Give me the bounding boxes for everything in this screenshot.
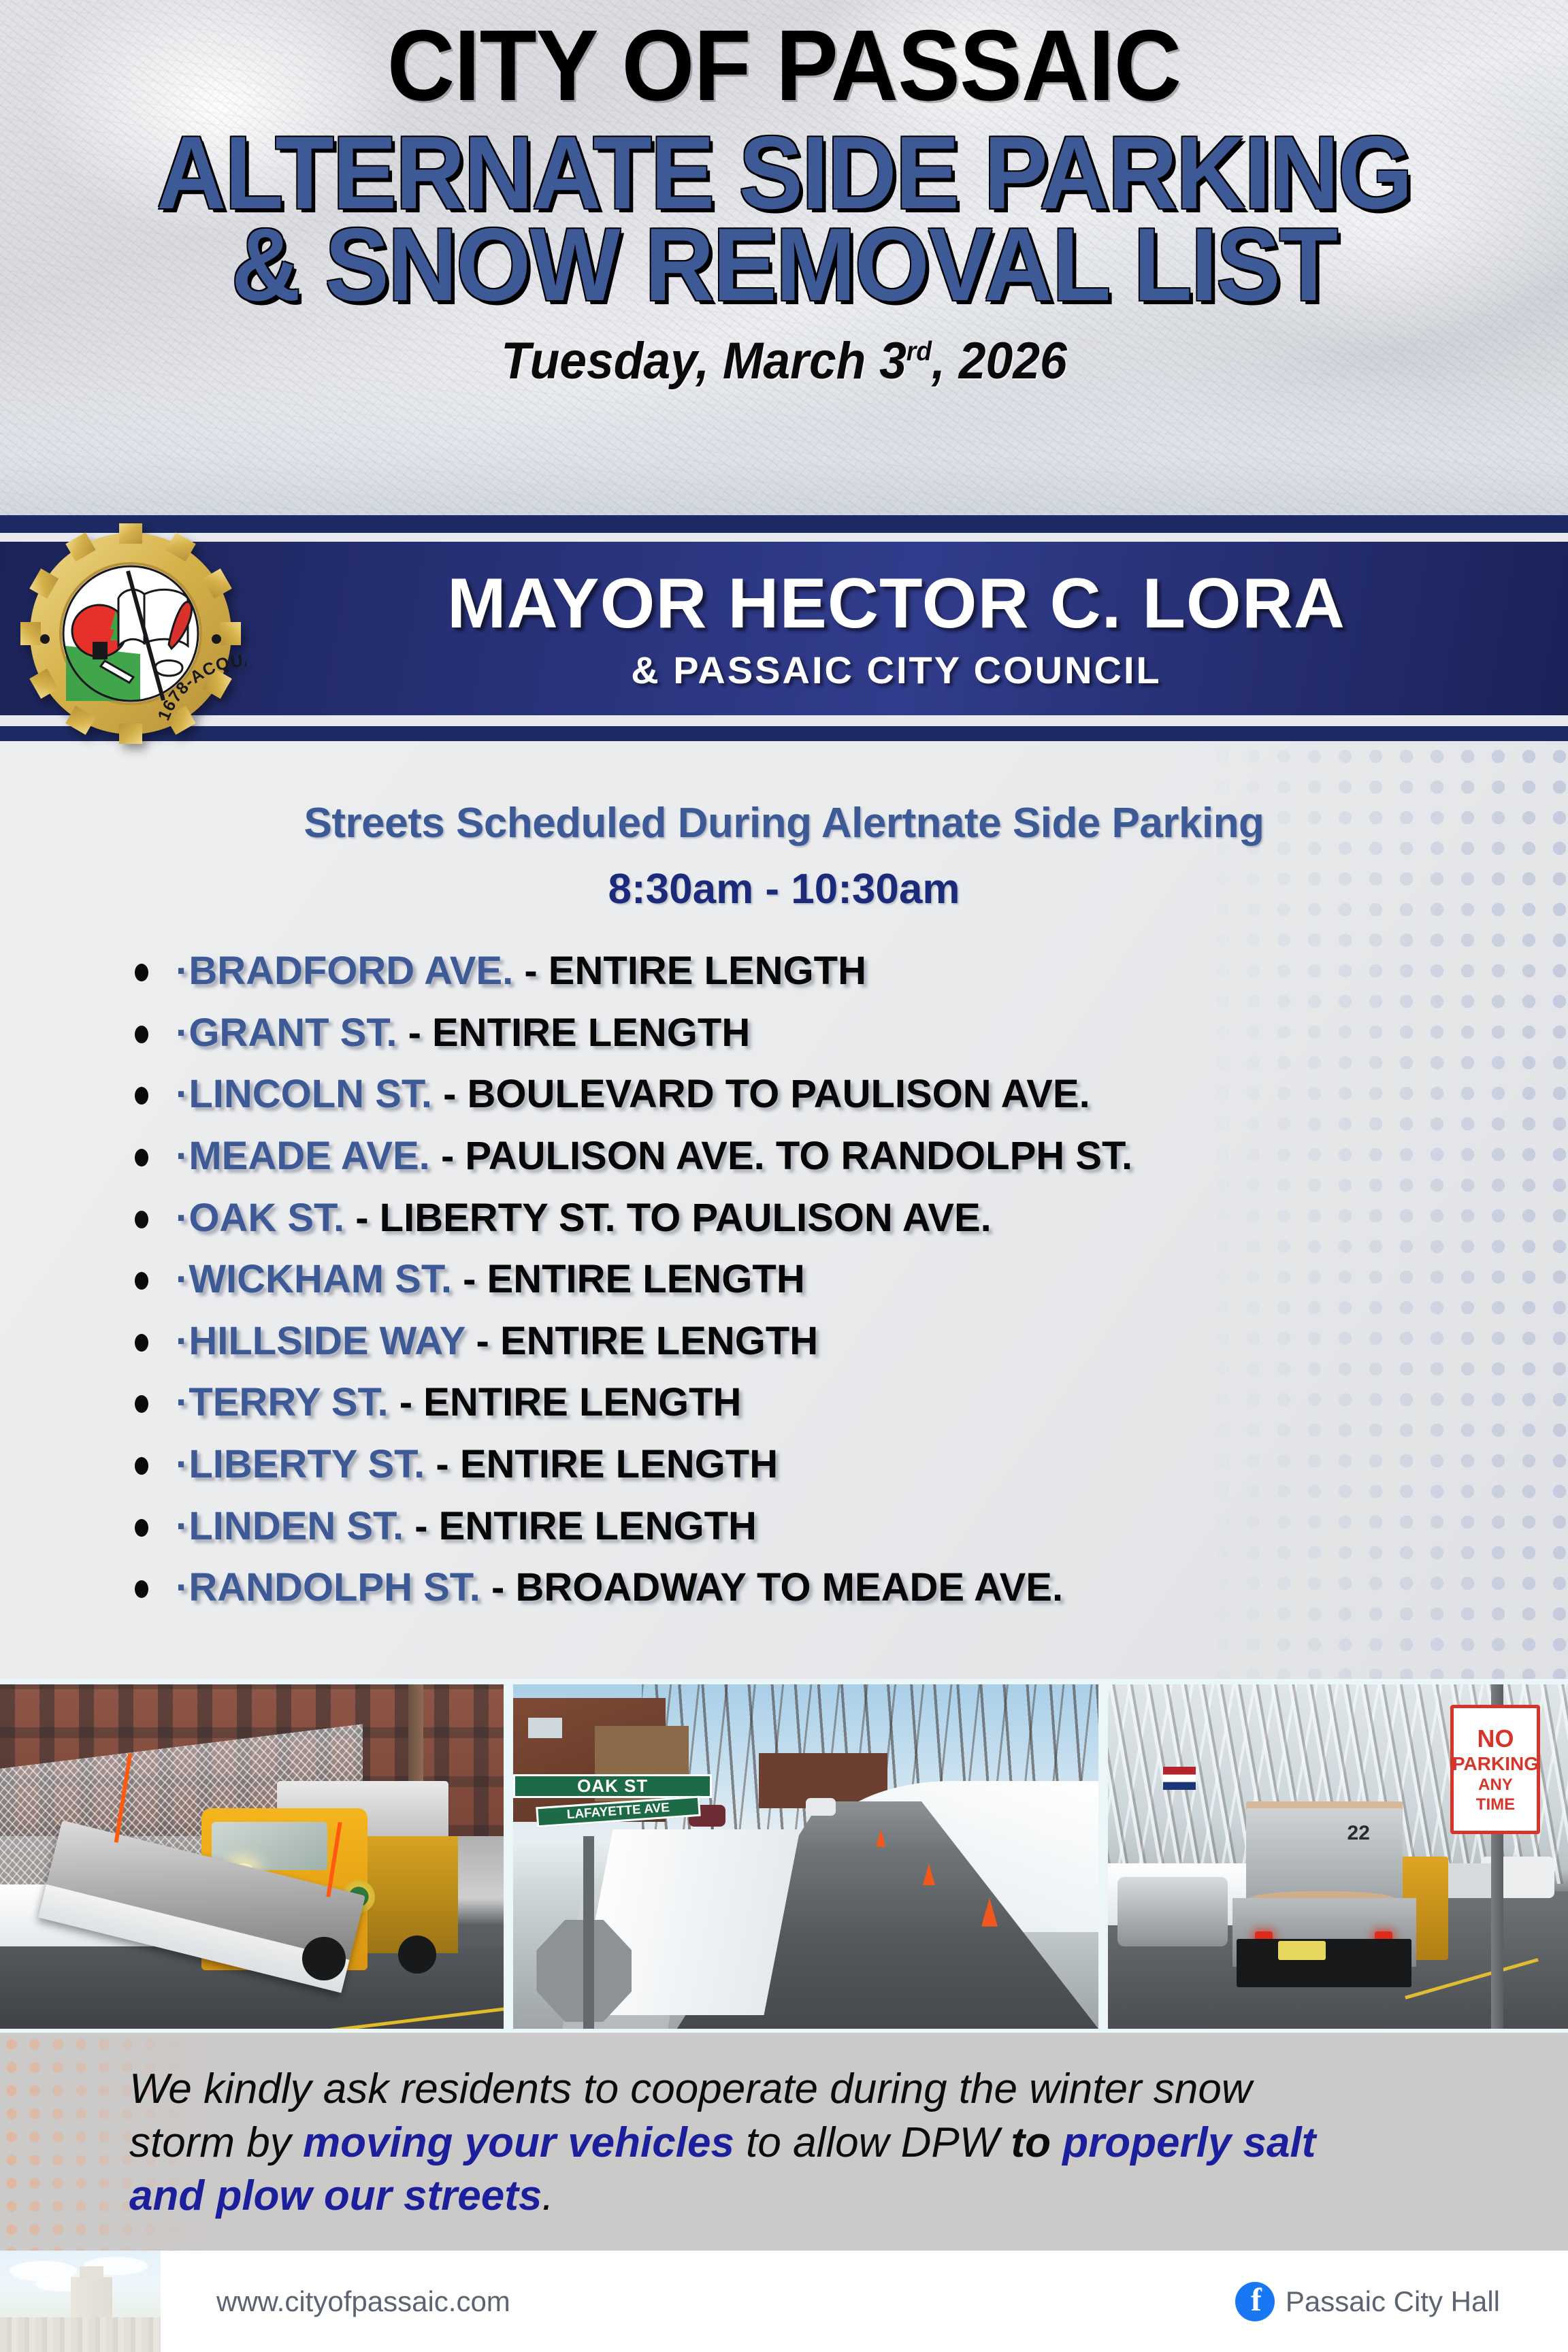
event-date-main: Tuesday, March 3 [501, 332, 906, 390]
list-heading: Streets Scheduled During Alertnate Side … [0, 799, 1568, 847]
page-footer: www.cityofpassaic.com Passaic City Hall [0, 2251, 1568, 2352]
street-sign-oak-st: OAK ST [513, 1774, 712, 1798]
street-name: ·HILLSIDE WAY [176, 1319, 465, 1363]
street-name: ·TERRY ST. [176, 1380, 389, 1424]
page-title-line2: & SNOW REMOVAL LIST [55, 216, 1514, 314]
facebook-page-label[interactable]: Passaic City Hall [1286, 2285, 1500, 2318]
city-skyline-photo [0, 2251, 161, 2352]
no-parking-line-4: TIME [1476, 1797, 1515, 1813]
website-url[interactable]: www.cityofpassaic.com [216, 2285, 510, 2318]
street-extent: - PAULISON AVE. TO RANDOLPH ST. [441, 1134, 1132, 1178]
list-item: ·BRADFORD AVE. - ENTIRE LENGTH [129, 950, 1568, 993]
no-parking-sign: NO PARKING ANY TIME [1450, 1705, 1540, 1834]
page-title-city: CITY OF PASSAIC [55, 15, 1514, 118]
street-list: ·BRADFORD AVE. - ENTIRE LENGTH ·GRANT ST… [129, 950, 1568, 1610]
street-name: ·LINDEN ST. [176, 1504, 404, 1548]
city-seal-icon: 1678-ACQUACKANONK CITY OF PASSAIC-1873 [15, 518, 246, 749]
street-extent: - LIBERTY ST. TO PAULISON AVE. [355, 1196, 992, 1240]
photo-strip: OAK ST LAFAYETTE AVE 22 NO PARKING ANY T… [0, 1679, 1568, 2033]
truck-number-label: 22 [1347, 1822, 1370, 1845]
street-name: ·WICKHAM ST. [176, 1257, 452, 1301]
event-date-year: , 2026 [932, 332, 1067, 390]
note-part-2: to allow DPW [734, 2119, 1011, 2166]
list-item: ·GRANT ST. - ENTIRE LENGTH [129, 1012, 1568, 1055]
street-extent: - ENTIRE LENGTH [399, 1380, 742, 1424]
photo-salt-spreader-truck: 22 NO PARKING ANY TIME [1108, 1684, 1568, 2029]
list-item: ·HILLSIDE WAY - ENTIRE LENGTH [129, 1320, 1568, 1363]
street-name: ·RANDOLPH ST. [176, 1565, 480, 1610]
street-extent: - ENTIRE LENGTH [463, 1257, 805, 1301]
note-bold-to: to [1011, 2119, 1051, 2166]
list-item: ·LINCOLN ST. - BOULEVARD TO PAULISON AVE… [129, 1073, 1568, 1116]
no-parking-line-2: PARKING [1452, 1754, 1539, 1774]
street-extent: - BROADWAY TO MEADE AVE. [491, 1565, 1063, 1610]
list-item: ·RANDOLPH ST. - BROADWAY TO MEADE AVE. [129, 1567, 1568, 1610]
street-name: ·LIBERTY ST. [176, 1442, 425, 1486]
street-extent: - BOULEVARD TO PAULISON AVE. [443, 1072, 1090, 1116]
resident-note-text: We kindly ask residents to cooperate dur… [129, 2063, 1364, 2223]
street-name: ·GRANT ST. [176, 1011, 397, 1055]
photo-cleared-street: OAK ST LAFAYETTE AVE [513, 1684, 1098, 2029]
street-extent: - ENTIRE LENGTH [524, 949, 866, 993]
list-item: ·LIBERTY ST. - ENTIRE LENGTH [129, 1443, 1568, 1486]
street-extent: - ENTIRE LENGTH [476, 1319, 819, 1363]
mayor-banner: MAYOR HECTOR C. LORA & PASSAIC CITY COUN… [0, 515, 1568, 750]
note-bold-moving-vehicles: moving your vehicles [303, 2119, 734, 2166]
list-item: ·MEADE AVE. - PAULISON AVE. TO RANDOLPH … [129, 1135, 1568, 1178]
city-council-label: & PASSAIC CITY COUNCIL [631, 651, 1162, 689]
mayor-name: MAYOR HECTOR C. LORA [447, 568, 1345, 639]
street-name: ·LINCOLN ST. [176, 1072, 432, 1116]
list-item: ·TERRY ST. - ENTIRE LENGTH [129, 1382, 1568, 1424]
street-name: ·OAK ST. [176, 1196, 344, 1240]
note-part-3: . [542, 2172, 553, 2219]
street-name: ·MEADE AVE. [176, 1134, 430, 1178]
resident-note-section: We kindly ask residents to cooperate dur… [0, 2033, 1568, 2251]
street-extent: - ENTIRE LENGTH [436, 1442, 778, 1486]
street-extent: - ENTIRE LENGTH [408, 1011, 751, 1055]
list-item: ·OAK ST. - LIBERTY ST. TO PAULISON AVE. [129, 1197, 1568, 1240]
street-list-section: Streets Scheduled During Alertnate Side … [0, 741, 1568, 1679]
street-extent: - ENTIRE LENGTH [414, 1504, 757, 1548]
list-item: ·LINDEN ST. - ENTIRE LENGTH [129, 1505, 1568, 1548]
list-item: ·WICKHAM ST. - ENTIRE LENGTH [129, 1258, 1568, 1301]
event-date-ordinal: rd [906, 336, 932, 366]
street-name: ·BRADFORD AVE. [176, 949, 513, 993]
no-parking-line-1: NO [1477, 1727, 1514, 1751]
list-time-range: 8:30am - 10:30am [0, 865, 1568, 913]
facebook-link[interactable]: Passaic City Hall [1235, 2282, 1500, 2321]
hero-header: CITY OF PASSAIC ALTERNATE SIDE PARKING &… [0, 0, 1568, 527]
photo-snow-plow-truck [0, 1684, 504, 2029]
no-parking-line-3: ANY [1478, 1777, 1513, 1793]
facebook-icon[interactable] [1235, 2282, 1275, 2321]
event-date: Tuesday, March 3rd, 2026 [47, 331, 1521, 391]
